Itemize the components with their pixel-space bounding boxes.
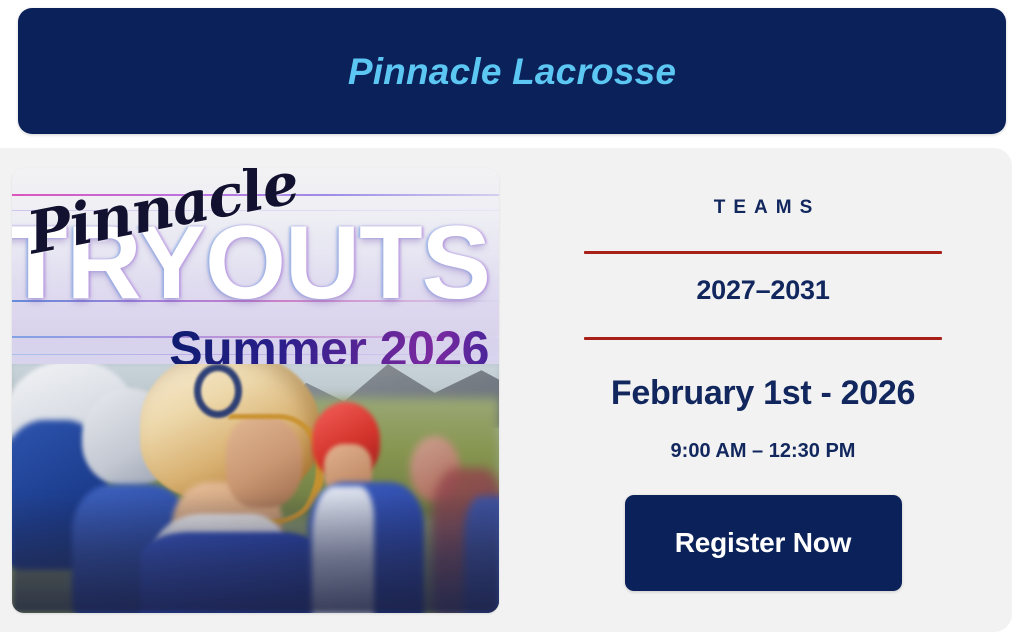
- team-age-range: 2027–2031: [524, 277, 1002, 304]
- register-now-button[interactable]: Register Now: [625, 495, 902, 591]
- divider-rule-bottom: [584, 337, 942, 340]
- flyer-artwork: TRYOUTS Pinnacle Summer 2026: [12, 168, 499, 380]
- photo-vignette: [12, 493, 499, 613]
- page-root: Pinnacle Lacrosse TRYOUTS Pinnacle Summe…: [0, 0, 1024, 640]
- event-time: 9:00 AM – 12:30 PM: [524, 441, 1002, 461]
- teams-section-label: TEAMS: [524, 198, 1002, 217]
- photo-helmet-logo: [194, 364, 242, 418]
- tryouts-flyer-image[interactable]: TRYOUTS Pinnacle Summer 2026: [12, 168, 499, 613]
- lacrosse-players-photo: [12, 364, 499, 613]
- divider-rule-top: [584, 251, 942, 254]
- site-header-banner: Pinnacle Lacrosse: [18, 8, 1006, 134]
- event-info-panel: TEAMS 2027–2031 February 1st - 2026 9:00…: [524, 168, 1002, 613]
- page-title: Pinnacle Lacrosse: [348, 53, 676, 90]
- event-date: February 1st - 2026: [524, 376, 1002, 410]
